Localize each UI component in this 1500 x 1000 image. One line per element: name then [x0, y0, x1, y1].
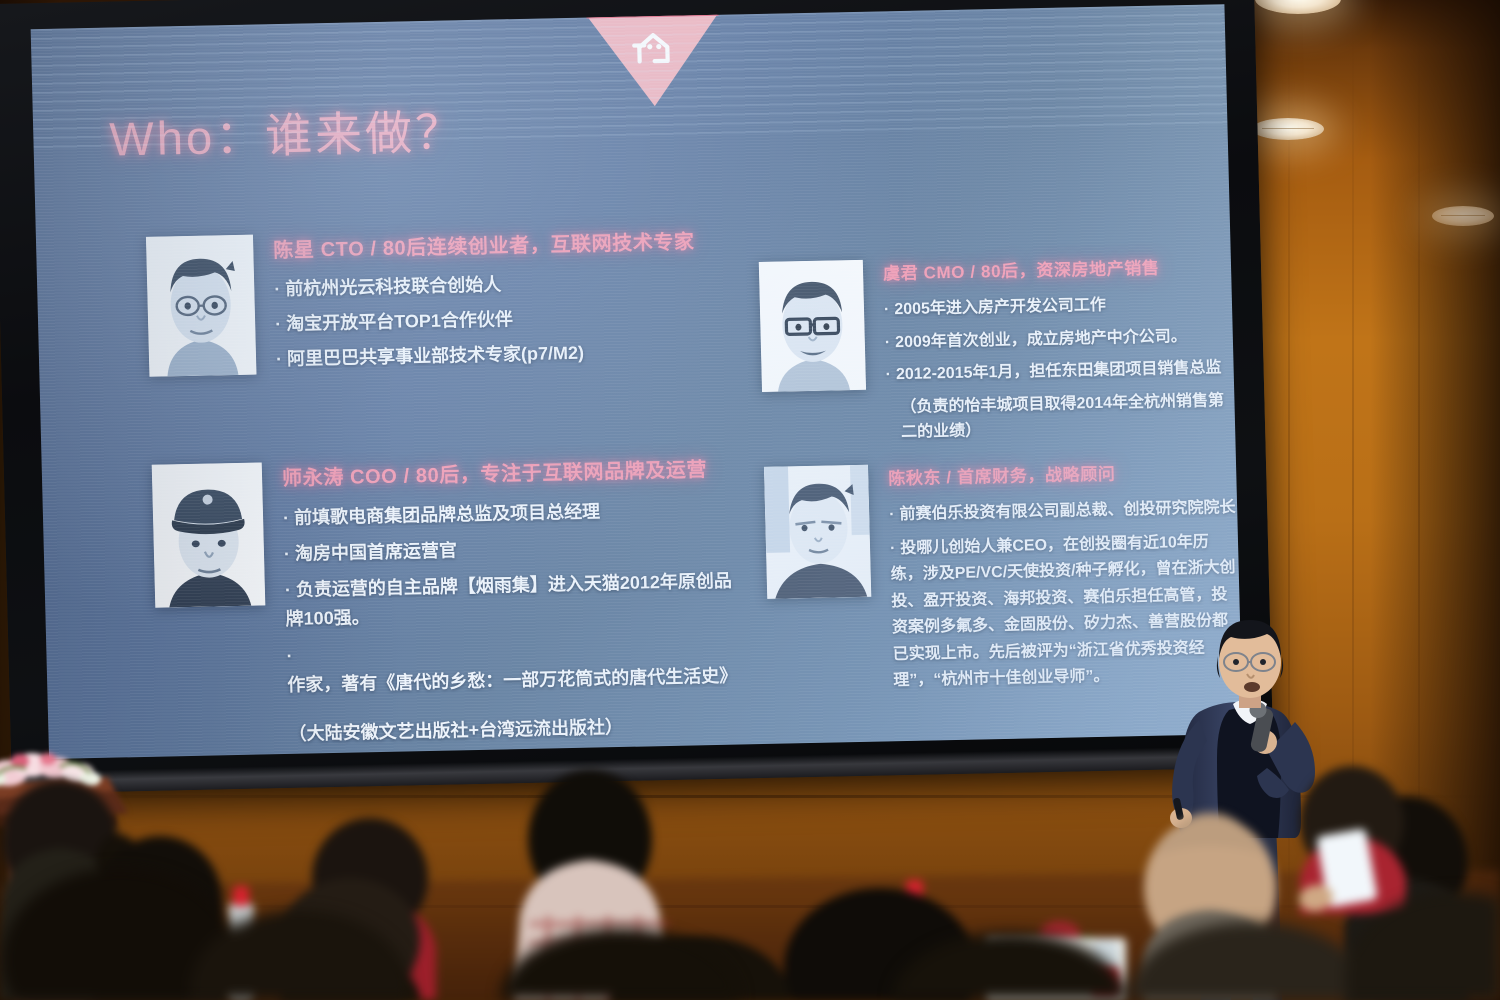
led-display-screen: Who：谁来做？ — [0, 0, 1274, 794]
bullet-text: 2012-2015年1月，担任东田集团项目销售总监 — [896, 360, 1222, 384]
bullet-dot-icon: · — [284, 544, 291, 564]
logo-badge — [586, 13, 720, 108]
list-item: ·前杭州光云科技联合创始人 — [274, 267, 696, 304]
bullet-dot-icon: · — [275, 314, 282, 334]
bullet-text: 作家，著有《唐代的乡愁：一部万花筒式的唐代生活史》 — [287, 665, 737, 694]
ceiling-sconce-2-icon — [1252, 118, 1324, 140]
list-item: ·前填歌电商集团品牌总监及项目总经理 — [283, 494, 739, 533]
person-name-line: 虞君 CMO / 80后，资深房地产销售 — [883, 252, 1232, 284]
list-item: ·2009年首次创业，成立房地产中介公司。 — [885, 323, 1234, 356]
person-name-line: 陈星 CTO / 80后连续创业者，互联网技术专家 — [273, 225, 695, 263]
list-item: ·2012-2015年1月，担任东田集团项目销售总监 — [885, 355, 1234, 388]
portrait-photo-cap-man-icon — [152, 462, 266, 607]
bullet-dot-icon: · — [885, 366, 891, 383]
near-audience-silhouettes-icon — [0, 710, 1500, 1000]
person-bullet-list: ·前杭州光云科技联合创始人 ·淘宝开放平台TOP1合作伙伴 ·阿里巴巴共享事业部… — [274, 267, 698, 373]
person-name-line: 师永涛 COO / 80后，专注于互联网品牌及运营 — [282, 453, 738, 492]
list-item: ·阿里巴巴共享事业部技术专家(p7/M2) — [276, 337, 698, 374]
person-bullet-list: ·2005年进入房产开发公司工作 ·2009年首次创业，成立房地产中介公司。 ·… — [884, 290, 1236, 446]
portrait-photo-glasses-man-icon — [146, 235, 257, 377]
presentation-slide: Who：谁来做？ — [31, 4, 1243, 759]
house-face-icon — [630, 28, 677, 69]
bullet-text: 淘宝开放平台TOP1合作伙伴 — [286, 309, 513, 334]
slide-title: Who：谁来做？ — [108, 93, 465, 169]
bullet-dot-icon: · — [885, 334, 891, 351]
bullet-dot-icon: · — [283, 508, 290, 528]
person-block-cto: 陈星 CTO / 80后连续创业者，互联网技术专家 ·前杭州光云科技联合创始人 … — [146, 225, 698, 383]
person-name-line: 陈秋东 / 首席财务，战略顾问 — [888, 457, 1237, 489]
list-item: ·作家，著有《唐代的乡愁：一部万花筒式的唐代生活史》 — [286, 632, 742, 700]
bullet-dot-icon: · — [889, 506, 895, 523]
conference-photo-scene: Who：谁来做？ — [0, 0, 1500, 1000]
bullet-text: 2009年首次创业，成立房地产中介公司。 — [895, 328, 1187, 351]
bullet-dot-icon: · — [890, 540, 896, 557]
person-block-coo: 师永涛 COO / 80后，专注于互联网品牌及运营 ·前填歌电商集团品牌总监及项… — [152, 453, 744, 749]
bullet-text: 阿里巴巴共享事业部技术专家(p7/M2) — [287, 342, 584, 368]
bullet-text: 淘房中国首席运营官 — [295, 541, 457, 564]
list-item: ·负责运营的自主品牌【烟雨集】进入天猫2012年原创品牌100强。 — [285, 567, 741, 635]
list-item: ·淘房中国首席运营官 — [284, 531, 740, 570]
portrait-photo-smiling-man-icon — [759, 260, 866, 392]
bullet-dot-icon: · — [286, 645, 293, 665]
wall-sconce-right-icon — [1432, 206, 1494, 226]
bullet-text: 前杭州光云科技联合创始人 — [285, 274, 501, 299]
list-item: ·2005年进入房产开发公司工作 — [884, 290, 1233, 323]
list-item: ·前赛伯乐投资有限公司副总裁、创投研究院院长 — [889, 495, 1238, 529]
bullet-text: 负责运营的自主品牌【烟雨集】进入天猫2012年原创品牌100强。 — [285, 571, 732, 630]
bullet-text: （负责的怡丰城项目取得2014年全杭州销售第二的业绩） — [900, 392, 1224, 441]
bullet-dot-icon: · — [274, 279, 281, 299]
bullet-text: 2005年进入房产开发公司工作 — [894, 297, 1106, 318]
list-item: ·淘宝开放平台TOP1合作伙伴 — [275, 302, 697, 339]
bullet-text: 前赛伯乐投资有限公司副总裁、创投研究院院长 — [899, 499, 1235, 523]
bullet-dot-icon: · — [884, 301, 890, 318]
audience-near-camera — [0, 710, 1500, 1000]
bullet-text: 前填歌电商集团品牌总监及项目总经理 — [294, 501, 600, 527]
list-item: （负责的怡丰城项目取得2014年全杭州销售第二的业绩） — [900, 388, 1235, 446]
person-block-cmo: 虞君 CMO / 80后，资深房地产销售 ·2005年进入房产开发公司工作 ·2… — [759, 252, 1236, 456]
person-bullet-list: ·前填歌电商集团品牌总监及项目总经理 ·淘房中国首席运营官 ·负责运营的自主品牌… — [283, 494, 743, 699]
bullet-dot-icon: · — [276, 349, 283, 369]
bullet-dot-icon: · — [285, 580, 292, 600]
portrait-photo-casual-man-icon — [764, 465, 871, 599]
